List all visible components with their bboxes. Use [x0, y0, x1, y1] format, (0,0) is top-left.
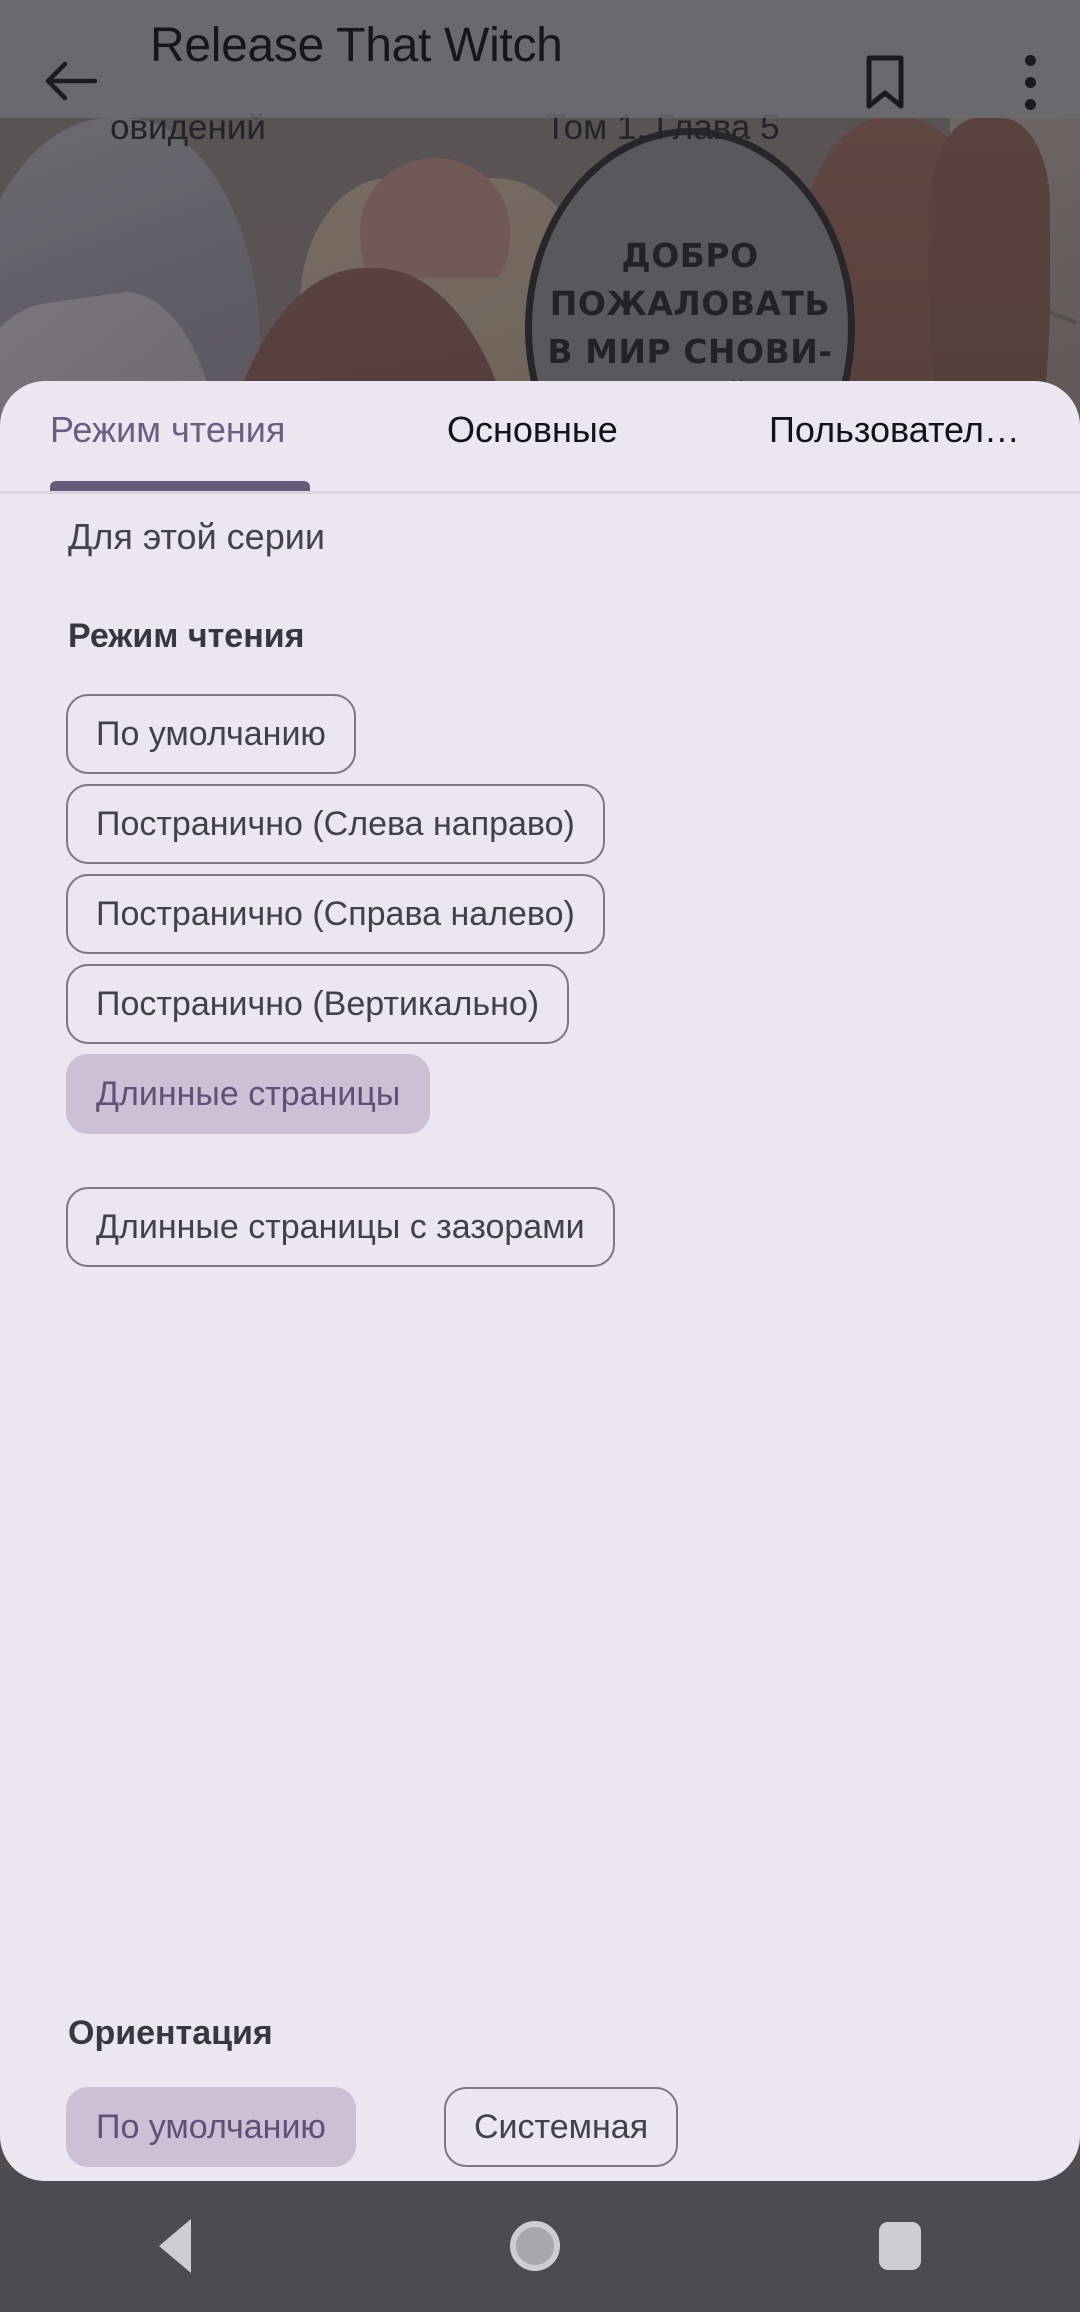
chip-reading-mode-default[interactable]: По умолчанию	[66, 694, 356, 774]
back-button[interactable]	[40, 56, 102, 106]
bookmark-icon	[864, 54, 906, 110]
tab-custom[interactable]: Пользовател…	[769, 409, 1020, 451]
scope-label: Для этой серии	[68, 516, 325, 558]
tab-general[interactable]: Основные	[447, 409, 618, 451]
settings-content: Для этой серии Режим чтения По умолчанию…	[0, 494, 1080, 2181]
nav-recents-square-icon[interactable]	[879, 2222, 921, 2270]
chip-reading-mode-webtoon[interactable]: Длинные страницы	[66, 1054, 430, 1134]
chip-reading-mode-rtl[interactable]: Постранично (Справа налево)	[66, 874, 605, 954]
nav-back-triangle-icon[interactable]	[159, 2219, 191, 2273]
arrow-left-icon	[45, 60, 97, 102]
overflow-menu-button[interactable]	[1005, 50, 1055, 114]
nav-home-circle-icon[interactable]	[510, 2221, 560, 2271]
chip-reading-mode-vertical[interactable]: Постранично (Вертикально)	[66, 964, 569, 1044]
chip-reading-mode-webtoon-gaps[interactable]: Длинные страницы с зазорами	[66, 1187, 615, 1267]
chip-reading-mode-ltr[interactable]: Постранично (Слева направо)	[66, 784, 605, 864]
more-vertical-icon-dot	[1025, 55, 1036, 66]
more-vertical-icon-dot	[1025, 99, 1036, 110]
section-title-reading-mode: Режим чтения	[68, 617, 304, 656]
section-title-orientation: Ориентация	[68, 2014, 273, 2053]
app-bar: Release That Witch	[0, 0, 1080, 118]
android-navigation-bar	[0, 2180, 1080, 2312]
bookmark-button[interactable]	[855, 50, 915, 114]
more-vertical-icon-dot	[1025, 77, 1036, 88]
tab-active-indicator	[50, 481, 310, 491]
reader-settings-sheet: Режим чтения Основные Пользовател… Для э…	[0, 381, 1080, 2181]
page-title: Release That Witch	[150, 18, 563, 73]
chip-orientation-system[interactable]: Системная	[444, 2087, 678, 2167]
chip-orientation-default[interactable]: По умолчанию	[66, 2087, 356, 2167]
settings-tab-bar: Режим чтения Основные Пользовател…	[0, 381, 1080, 491]
tab-reading-mode[interactable]: Режим чтения	[50, 409, 285, 451]
